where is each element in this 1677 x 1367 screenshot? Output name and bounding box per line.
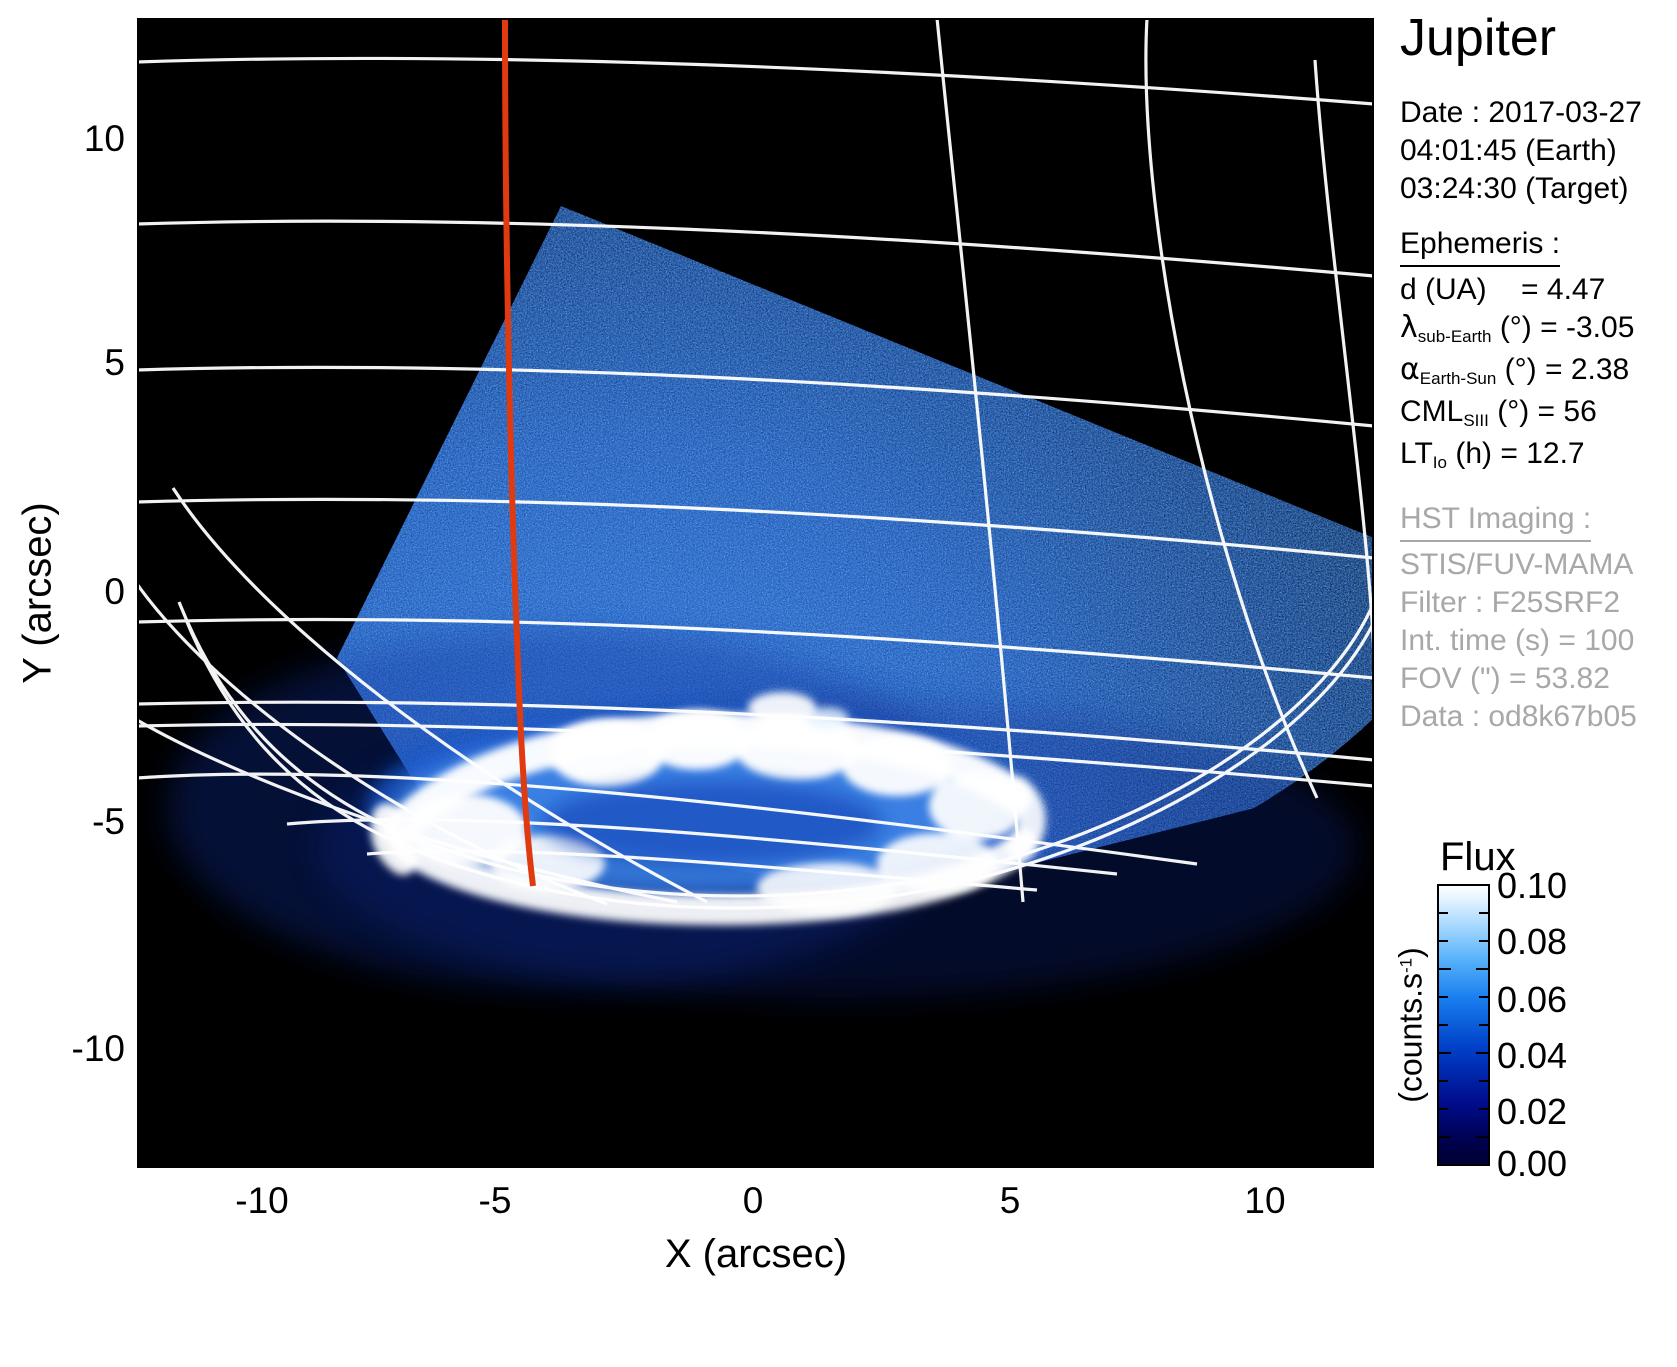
instrument-integration-time: Int. time (s) = 100 bbox=[1400, 622, 1637, 660]
x-tick-label: -10 bbox=[235, 1180, 288, 1222]
cml-subscript: SIII bbox=[1463, 411, 1489, 430]
cml-value: = 56 bbox=[1538, 395, 1597, 428]
ephemeris-row-lambda: λsub-Earth (°) = -3.05 bbox=[1400, 309, 1634, 351]
plot-border bbox=[137, 18, 1374, 1168]
alpha-symbol: α bbox=[1400, 352, 1420, 387]
observation-time-earth: 04:01:45 (Earth) bbox=[1400, 132, 1642, 170]
colorbar-tick-label: 0.04 bbox=[1497, 1035, 1567, 1077]
instrument-detector: STIS/FUV-MAMA bbox=[1400, 546, 1637, 584]
x-axis-title: X (arcsec) bbox=[665, 1232, 847, 1277]
observation-block: Date : 2017-03-27 04:01:45 (Earth) 03:24… bbox=[1400, 94, 1642, 208]
x-tick-label: 10 bbox=[1244, 1180, 1285, 1222]
x-tick-label: -5 bbox=[479, 1180, 512, 1222]
y-tick-label: -10 bbox=[72, 1028, 125, 1070]
colorbar-unit-text: (counts.s bbox=[1392, 973, 1428, 1103]
instrument-heading-text: HST Imaging : bbox=[1400, 500, 1591, 542]
distance-label: d (UA) bbox=[1400, 273, 1487, 306]
colorbar-tick-label: 0.02 bbox=[1497, 1091, 1567, 1133]
ephemeris-row-alpha: αEarth-Sun (°) = 2.38 bbox=[1400, 351, 1634, 393]
colorbar-tick-label: 0.08 bbox=[1497, 921, 1567, 963]
lt-value: = 12.7 bbox=[1500, 437, 1584, 470]
cml-label: CML bbox=[1400, 395, 1463, 428]
instrument-heading: HST Imaging : bbox=[1400, 500, 1637, 546]
y-tick-label: -5 bbox=[92, 801, 125, 843]
lt-label: LT bbox=[1400, 437, 1433, 470]
sky-image-panel bbox=[137, 18, 1374, 1168]
figure-root: 10 5 0 -5 -10 Y (arcsec) -10 -5 0 5 10 X… bbox=[0, 0, 1677, 1367]
cml-unit: (°) bbox=[1497, 395, 1529, 428]
ephemeris-block: Ephemeris : d (UA) = 4.47 λsub-Earth (°)… bbox=[1400, 225, 1634, 477]
ephemeris-row-lt: LTIo (h) = 12.7 bbox=[1400, 435, 1634, 477]
x-tick-label: 0 bbox=[743, 1180, 764, 1222]
lt-unit: (h) bbox=[1455, 437, 1492, 470]
y-axis-title: Y (arcsec) bbox=[16, 502, 61, 684]
lambda-subscript: sub-Earth bbox=[1418, 327, 1492, 346]
colorbar-tick-label: 0.10 bbox=[1497, 865, 1567, 907]
ephemeris-heading: Ephemeris : bbox=[1400, 225, 1634, 271]
distance-value: = 4.47 bbox=[1521, 273, 1605, 306]
instrument-block: HST Imaging : STIS/FUV-MAMA Filter : F25… bbox=[1400, 500, 1637, 736]
observation-time-target: 03:24:30 (Target) bbox=[1400, 170, 1642, 208]
ephemeris-row-cml: CMLSIII (°) = 56 bbox=[1400, 393, 1634, 435]
colorbar-unit-exponent: -1 bbox=[1396, 958, 1415, 973]
y-tick-label: 5 bbox=[104, 342, 125, 384]
y-tick-label: 10 bbox=[84, 118, 125, 160]
ephemeris-heading-text: Ephemeris : bbox=[1400, 225, 1560, 267]
y-tick-label: 0 bbox=[104, 571, 125, 613]
instrument-filter: Filter : F25SRF2 bbox=[1400, 584, 1637, 622]
observation-date: Date : 2017-03-27 bbox=[1400, 94, 1642, 132]
lt-subscript: Io bbox=[1433, 453, 1447, 472]
ephemeris-row-distance: d (UA) = 4.47 bbox=[1400, 271, 1634, 309]
lambda-value: = -3.05 bbox=[1540, 311, 1634, 344]
page-title: Jupiter bbox=[1400, 12, 1556, 64]
lambda-unit: (°) bbox=[1500, 311, 1532, 344]
instrument-fov: FOV (") = 53.82 bbox=[1400, 660, 1637, 698]
colorbar-tick-label: 0.00 bbox=[1497, 1143, 1567, 1185]
instrument-dataset: Data : od8k67b05 bbox=[1400, 698, 1637, 736]
colorbar-tick-label: 0.06 bbox=[1497, 979, 1567, 1021]
alpha-subscript: Earth-Sun bbox=[1420, 369, 1497, 388]
colorbar-unit-label: (counts.s-1) bbox=[1392, 947, 1429, 1103]
alpha-value: = 2.38 bbox=[1545, 353, 1629, 386]
lambda-symbol: λ bbox=[1400, 310, 1418, 345]
colorbar-unit-close: ) bbox=[1392, 947, 1428, 958]
alpha-unit: (°) bbox=[1505, 353, 1537, 386]
x-tick-label: 5 bbox=[1000, 1180, 1021, 1222]
